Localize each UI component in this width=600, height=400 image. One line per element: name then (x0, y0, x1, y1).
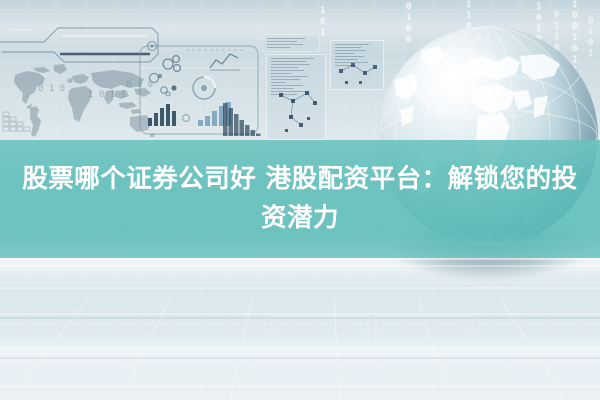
title-line-1: 股票哪个证券公司好 港股配资平台：解锁您的投 (22, 160, 577, 199)
micro-text-panel-top (262, 34, 320, 52)
perspective-floor-grid (0, 258, 600, 400)
node-diagram-left (267, 55, 325, 139)
band-seam (0, 258, 600, 261)
map-digit-label: 0 1 0 (38, 84, 65, 95)
page-title: 股票哪个证券公司好 港股配资平台：解锁您的投 资潜力 (0, 140, 600, 258)
stacked-blocks-graphic (2, 108, 34, 136)
globe-specular-highlight (413, 48, 514, 123)
binary-column: 1 0 1 (320, 6, 325, 39)
micro-text-panel-left (266, 54, 326, 140)
title-line-2: 资潜力 (261, 199, 339, 238)
map-digit-label: 0 1 0 (126, 80, 153, 91)
descending-bar-chart (222, 100, 262, 140)
banner-image: 1 0 1 0 1 0 0 1 1 0 1 0 1 0 0 1 0 1 1 0 … (0, 0, 600, 400)
map-digit-label: 1 0 1 1 (88, 90, 126, 101)
